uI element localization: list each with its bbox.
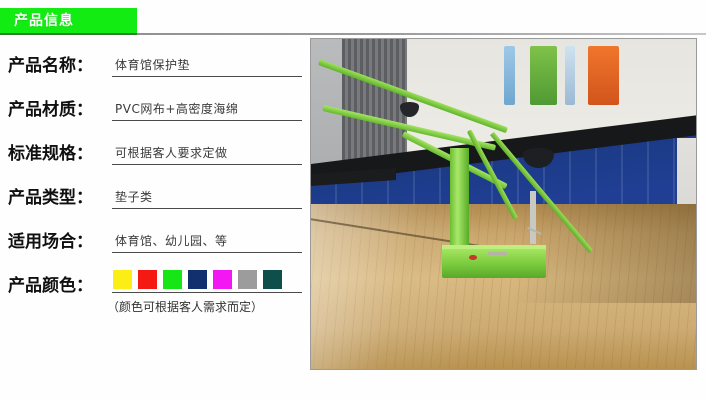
spec-label: 产品材质： — [8, 95, 93, 120]
spec-label: 产品类型： — [8, 183, 93, 208]
color-swatch-red — [138, 270, 157, 289]
product-photo-frame — [310, 38, 697, 370]
spec-label: 产品名称： — [8, 51, 93, 76]
spec-list: 产品名称： 体育馆保护垫 产品材质： PVC网布+高密度海绵 标准规格： 可根据… — [0, 44, 306, 308]
spec-value: PVC网布+高密度海绵 — [115, 100, 238, 117]
spec-value: 垫子类 — [115, 188, 153, 205]
header-divider-accent — [0, 33, 137, 35]
color-swatch-yellow — [113, 270, 132, 289]
spec-row-product-name: 产品名称： 体育馆保护垫 — [0, 44, 306, 88]
spec-value-field: 垫子类 — [112, 176, 302, 209]
spec-value: 体育馆保护垫 — [115, 56, 190, 73]
spec-value: 体育馆、幼儿园、等 — [115, 232, 228, 249]
photo-floor-reflection — [311, 204, 473, 369]
color-swatch-dark-teal — [263, 270, 282, 289]
product-info-page: 产品信息 产品名称： 体育馆保护垫 产品材质： PVC网布+高密度海绵 标准规格… — [0, 0, 706, 400]
spec-row-application: 适用场合： 体育馆、幼儿园、等 — [0, 220, 306, 264]
spec-value-field: 可根据客人要求定做 — [112, 132, 302, 165]
spec-row-color: 产品颜色： （颜色可根据客人需求而定） — [0, 264, 306, 308]
spec-value: 可根据客人要求定做 — [115, 144, 228, 161]
section-title: 产品信息 — [14, 12, 74, 30]
photo-wall-sign-green — [530, 46, 557, 105]
spec-row-specification: 标准规格： 可根据客人要求定做 — [0, 132, 306, 176]
color-swatch-magenta — [213, 270, 232, 289]
photo-tripod — [530, 191, 536, 244]
color-swatch-gray — [238, 270, 257, 289]
spec-label: 标准规格： — [8, 139, 93, 164]
product-photo — [311, 39, 696, 369]
photo-wall-sign-blue-b — [565, 46, 575, 105]
spec-value-field: PVC网布+高密度海绵 — [112, 88, 302, 121]
spec-value-field: 体育馆保护垫 — [112, 44, 302, 77]
spec-row-material: 产品材质： PVC网布+高密度海绵 — [0, 88, 306, 132]
spec-value-field: 体育馆、幼儿园、等 — [112, 220, 302, 253]
color-note: （颜色可根据客人需求而定） — [107, 298, 263, 315]
photo-wood-floor — [311, 204, 696, 369]
spec-label: 产品颜色： — [8, 271, 93, 296]
photo-wall-sign-blue-a — [504, 46, 516, 105]
photo-hoop-base-plate — [488, 252, 507, 257]
photo-hoop-net-far — [400, 102, 419, 117]
color-swatch-field — [112, 264, 302, 293]
spec-label: 适用场合： — [8, 227, 93, 252]
section-header-tab: 产品信息 — [0, 8, 137, 34]
section-header: 产品信息 — [0, 8, 706, 34]
photo-wall-sign-orange — [588, 46, 619, 105]
color-swatch-navy — [188, 270, 207, 289]
color-swatch-green — [163, 270, 182, 289]
color-swatch-strip — [113, 270, 282, 289]
spec-row-product-type: 产品类型： 垫子类 — [0, 176, 306, 220]
